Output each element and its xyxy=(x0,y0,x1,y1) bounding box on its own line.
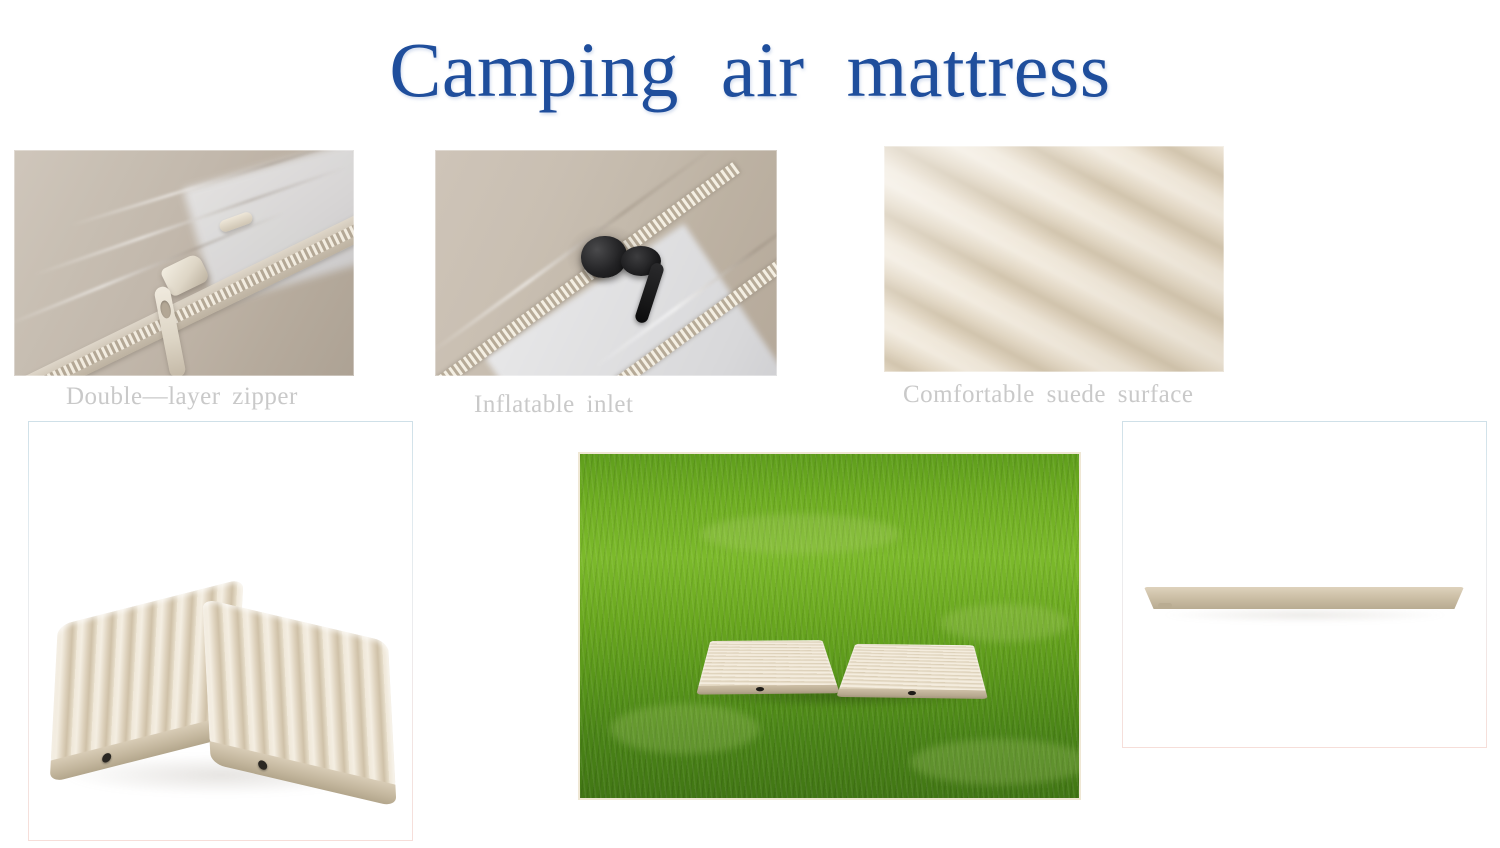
detail-photo-suede xyxy=(884,146,1224,372)
product-shot-side-frame xyxy=(1122,421,1487,748)
grass-highlight xyxy=(910,739,1079,785)
suede-photo-scene xyxy=(884,146,1224,372)
detail-photo-zipper xyxy=(14,150,354,376)
product-shot-on-grass xyxy=(578,452,1081,800)
mattress-right xyxy=(202,598,395,792)
grass-highlight xyxy=(610,704,760,754)
inlet-photo-scene xyxy=(435,150,777,376)
mattress-side-wall xyxy=(696,685,840,695)
page-title: Camping air mattress xyxy=(0,22,1500,118)
air-valve-icon xyxy=(1158,603,1172,608)
air-valve-icon xyxy=(581,236,627,278)
grass-highlight xyxy=(940,604,1070,642)
grass-photo-scene xyxy=(580,454,1079,798)
mattress-side-wall xyxy=(1144,587,1464,609)
mattress-ground-shadow xyxy=(1160,607,1450,623)
mattress-right xyxy=(838,644,986,693)
suede-sheen-overlay xyxy=(884,146,1224,372)
caption-inflatable-inlet: Inflatable inlet xyxy=(474,390,633,420)
detail-photo-inlet xyxy=(435,150,777,376)
product-shot-pair-frame xyxy=(28,421,413,841)
side-view-mattress-scene xyxy=(1144,549,1464,629)
zipper-photo-scene xyxy=(14,150,354,376)
mattress-ribbed-top xyxy=(698,640,838,689)
mattress-ribbed-top xyxy=(838,644,986,693)
caption-comfortable-suede-surface: Comfortable suede surface xyxy=(903,380,1193,410)
mattress-ribbed-top xyxy=(1148,549,1460,591)
slide-canvas: Camping air mattress xyxy=(0,0,1500,848)
grass-highlight xyxy=(700,514,900,554)
caption-double-layer-zipper: Double—layer zipper xyxy=(66,382,298,412)
mattress-left xyxy=(698,640,838,689)
pair-mattress-scene xyxy=(46,517,396,817)
